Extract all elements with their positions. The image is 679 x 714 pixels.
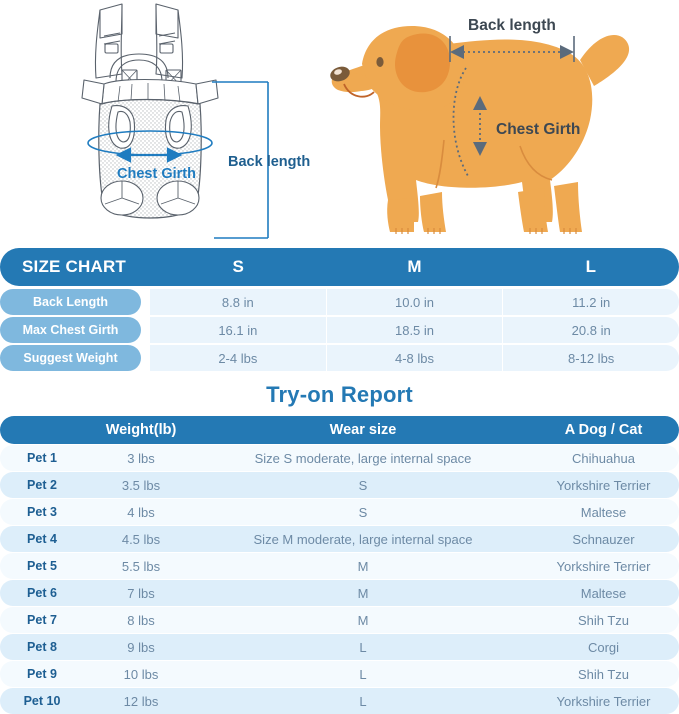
tryon-cell-weight: 4 lbs [84,505,198,520]
tryon-cell-weight: 4.5 lbs [84,532,198,547]
tryon-row: Pet 910 lbsLShih Tzu [0,661,679,687]
tryon-cell-pet: Pet 6 [0,586,84,600]
tryon-row: Pet 67 lbsMMaltese [0,580,679,606]
size-chart-row-back-length: Back Length 8.8 in 10.0 in 11.2 in [0,289,679,315]
illustration-panel: Chest Girth Back length [0,0,679,240]
tryon-rows-container: Pet 13 lbsSize S moderate, large interna… [0,445,679,714]
tryon-cell-weight: 3 lbs [84,451,198,466]
tryon-report-section: Try-on Report Weight(lb) Wear size A Dog… [0,373,679,714]
tryon-cell-weight: 5.5 lbs [84,559,198,574]
size-chart-table: SIZE CHART S M L Back Length 8.8 in 10.0… [0,240,679,371]
size-chart-row-label: Back Length [0,289,141,315]
tryon-cell-pet: Pet 7 [0,613,84,627]
size-chart-cell: 11.2 in [503,289,679,315]
tryon-cell-pet: Pet 3 [0,505,84,519]
tryon-cell-breed: Yorkshire Terrier [528,694,679,709]
dog-back-length-label: Back length [468,17,556,34]
tryon-cell-wear-size: S [198,505,528,520]
tryon-cell-wear-size: S [198,478,528,493]
size-chart-cell: 16.1 in [150,317,327,343]
size-column-header-l: L [503,257,679,277]
tryon-row: Pet 1012 lbsLYorkshire Terrier [0,688,679,714]
tryon-cell-breed: Yorkshire Terrier [528,478,679,493]
tryon-row: Pet 78 lbsMShih Tzu [0,607,679,633]
carrier-back-length-label: Back length [228,154,310,170]
dog-body-shape [328,26,629,234]
tryon-cell-wear-size: Size S moderate, large internal space [198,451,528,466]
size-chart-cell: 10.0 in [327,289,504,315]
size-chart-row-label: Max Chest Girth [0,317,141,343]
tryon-cell-pet: Pet 9 [0,667,84,681]
tryon-column-header-breed: A Dog / Cat [528,422,679,438]
tryon-row: Pet 55.5 lbsMYorkshire Terrier [0,553,679,579]
tryon-cell-pet: Pet 1 [0,451,84,465]
tryon-cell-weight: 7 lbs [84,586,198,601]
tryon-cell-wear-size: L [198,667,528,682]
tryon-cell-weight: 10 lbs [84,667,198,682]
size-chart-row-suggest-weight: Suggest Weight 2-4 lbs 4-8 lbs 8-12 lbs [0,345,679,371]
tryon-cell-pet: Pet 8 [0,640,84,654]
size-chart-header-row: SIZE CHART S M L [0,248,679,286]
dog-eye [376,57,383,67]
tryon-cell-wear-size: M [198,613,528,628]
size-chart-cell: 2-4 lbs [150,345,327,371]
tryon-cell-wear-size: M [198,586,528,601]
tryon-cell-pet: Pet 4 [0,532,84,546]
size-chart-cell: 8-12 lbs [503,345,679,371]
tryon-column-header-weight: Weight(lb) [84,422,198,438]
tryon-header-row: Weight(lb) Wear size A Dog / Cat [0,416,679,444]
tryon-row: Pet 34 lbsSMaltese [0,499,679,525]
tryon-cell-breed: Corgi [528,640,679,655]
carrier-illustration: Chest Girth Back length [60,0,322,240]
tryon-report-title: Try-on Report [0,373,679,416]
tryon-cell-weight: 8 lbs [84,613,198,628]
tryon-cell-breed: Shih Tzu [528,613,679,628]
size-column-header-s: S [150,257,326,277]
dog-chest-girth-label: Chest Girth [496,121,580,138]
tryon-cell-breed: Yorkshire Terrier [528,559,679,574]
tryon-cell-breed: Chihuahua [528,451,679,466]
tryon-cell-weight: 9 lbs [84,640,198,655]
tryon-row: Pet 23.5 lbsSYorkshire Terrier [0,472,679,498]
tryon-cell-breed: Schnauzer [528,532,679,547]
tryon-row: Pet 13 lbsSize S moderate, large interna… [0,445,679,471]
size-column-header-m: M [326,257,502,277]
tryon-cell-weight: 12 lbs [84,694,198,709]
size-chart-title: SIZE CHART [0,257,150,277]
dog-illustration: Back length Chest Girth [322,0,679,240]
carrier-chest-girth-label: Chest Girth [117,166,196,182]
size-chart-cell: 18.5 in [327,317,504,343]
size-chart-row-max-chest-girth: Max Chest Girth 16.1 in 18.5 in 20.8 in [0,317,679,343]
tryon-cell-wear-size: L [198,694,528,709]
size-chart-cell: 4-8 lbs [327,345,504,371]
size-chart-cell: 8.8 in [150,289,327,315]
tryon-row: Pet 44.5 lbsSize M moderate, large inter… [0,526,679,552]
size-chart-row-label: Suggest Weight [0,345,141,371]
tryon-cell-wear-size: L [198,640,528,655]
tryon-column-header-wear-size: Wear size [198,422,528,438]
tryon-cell-wear-size: Size M moderate, large internal space [198,532,528,547]
tryon-cell-breed: Maltese [528,586,679,601]
tryon-cell-pet: Pet 10 [0,694,84,708]
tryon-cell-pet: Pet 2 [0,478,84,492]
tryon-cell-pet: Pet 5 [0,559,84,573]
dog-ear [395,34,450,93]
tryon-cell-weight: 3.5 lbs [84,478,198,493]
tryon-cell-wear-size: M [198,559,528,574]
tryon-cell-breed: Shih Tzu [528,667,679,682]
size-chart-cell: 20.8 in [503,317,679,343]
tryon-cell-breed: Maltese [528,505,679,520]
tryon-row: Pet 89 lbsLCorgi [0,634,679,660]
